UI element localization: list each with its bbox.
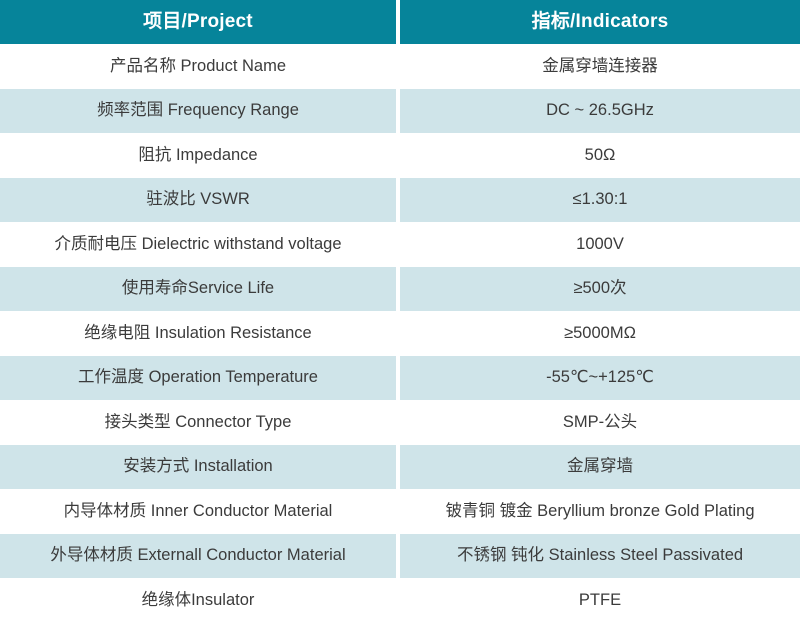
column-header-indicators: 指标/Indicators: [400, 0, 800, 44]
cell-project: 频率范围 Frequency Range: [0, 89, 396, 134]
cell-project: 绝缘体Insulator: [0, 578, 396, 623]
table-header-row: 项目/Project 指标/Indicators: [0, 0, 800, 44]
cell-project: 阻抗 Impedance: [0, 133, 396, 178]
table-row: 外导体材质 Externall Conductor Material不锈钢 钝化…: [0, 534, 800, 579]
table-row: 安装方式 Installation金属穿墙: [0, 445, 800, 490]
cell-indicator: 金属穿墙连接器: [400, 44, 800, 89]
cell-indicator: 50Ω: [400, 133, 800, 178]
table-row: 阻抗 Impedance50Ω: [0, 133, 800, 178]
cell-indicator: ≥5000MΩ: [400, 311, 800, 356]
table-row: 绝缘体InsulatorPTFE: [0, 578, 800, 623]
cell-indicator: 不锈钢 钝化 Stainless Steel Passivated: [400, 534, 800, 579]
table-row: 产品名称 Product Name金属穿墙连接器: [0, 44, 800, 89]
cell-project: 安装方式 Installation: [0, 445, 396, 490]
cell-project: 使用寿命Service Life: [0, 267, 396, 312]
cell-indicator: ≤1.30:1: [400, 178, 800, 223]
cell-indicator: 铍青铜 镀金 Beryllium bronze Gold Plating: [400, 489, 800, 534]
table-row: 使用寿命Service Life≥500次: [0, 267, 800, 312]
cell-project: 内导体材质 Inner Conductor Material: [0, 489, 396, 534]
cell-project: 绝缘电阻 Insulation Resistance: [0, 311, 396, 356]
table-row: 绝缘电阻 Insulation Resistance≥5000MΩ: [0, 311, 800, 356]
table-body: 产品名称 Product Name金属穿墙连接器频率范围 Frequency R…: [0, 44, 800, 623]
table-row: 驻波比 VSWR≤1.30:1: [0, 178, 800, 223]
column-header-project: 项目/Project: [0, 0, 396, 44]
table-row: 频率范围 Frequency RangeDC ~ 26.5GHz: [0, 89, 800, 134]
cell-indicator: ≥500次: [400, 267, 800, 312]
cell-project: 外导体材质 Externall Conductor Material: [0, 534, 396, 579]
specification-table: 项目/Project 指标/Indicators 产品名称 Product Na…: [0, 0, 800, 623]
table-row: 内导体材质 Inner Conductor Material铍青铜 镀金 Ber…: [0, 489, 800, 534]
cell-project: 产品名称 Product Name: [0, 44, 396, 89]
cell-indicator: DC ~ 26.5GHz: [400, 89, 800, 134]
cell-indicator: -55℃~+125℃: [400, 356, 800, 401]
cell-indicator: SMP-公头: [400, 400, 800, 445]
table-row: 工作温度 Operation Temperature-55℃~+125℃: [0, 356, 800, 401]
table-row: 接头类型 Connector TypeSMP-公头: [0, 400, 800, 445]
table-header: 项目/Project 指标/Indicators: [0, 0, 800, 44]
cell-indicator: 1000V: [400, 222, 800, 267]
cell-project: 介质耐电压 Dielectric withstand voltage: [0, 222, 396, 267]
table-row: 介质耐电压 Dielectric withstand voltage1000V: [0, 222, 800, 267]
cell-project: 工作温度 Operation Temperature: [0, 356, 396, 401]
cell-indicator: PTFE: [400, 578, 800, 623]
cell-project: 接头类型 Connector Type: [0, 400, 396, 445]
cell-indicator: 金属穿墙: [400, 445, 800, 490]
cell-project: 驻波比 VSWR: [0, 178, 396, 223]
